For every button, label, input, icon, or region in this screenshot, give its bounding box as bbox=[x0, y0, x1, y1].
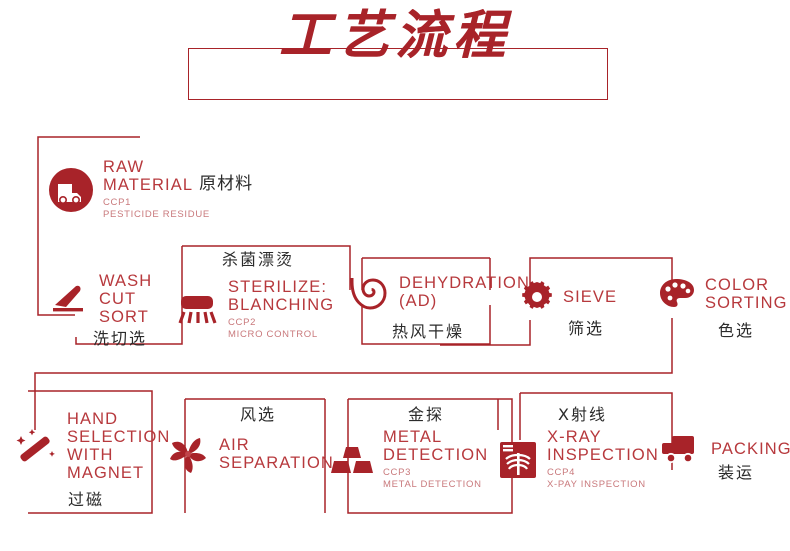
step-raw-material[interactable]: RAW MATERIAL 原材料 CCP1 PESTICIDE RESIDUE bbox=[48, 158, 253, 221]
step-ccp-note: CCP1 PESTICIDE RESIDUE bbox=[103, 197, 253, 221]
step-metal-detection[interactable]: METAL DETECTION CCP3 METAL DETECTION bbox=[330, 428, 488, 491]
page-title: 工艺流程 bbox=[0, 10, 790, 62]
step-ccp-note: CCP2 MICRO CONTROL bbox=[228, 317, 334, 341]
step-label-en: COLOR SORTING bbox=[705, 276, 788, 312]
gold-bars-icon bbox=[330, 441, 374, 479]
step-label-cn-wash: 洗切选 bbox=[93, 325, 147, 349]
step-label-en: DEHYDRATION (AD) bbox=[399, 274, 530, 310]
magic-wand-icon bbox=[12, 423, 58, 469]
step-label-cn-packing: 装运 bbox=[718, 459, 754, 483]
step-wash-cut-sort[interactable]: WASH CUT SORT bbox=[48, 272, 152, 326]
step-air-separation[interactable]: AIR SEPARATION bbox=[166, 432, 334, 476]
step-x-ray-inspection[interactable]: X-RAY INSPECTION CCP4 X-PAY INSPECTION bbox=[498, 428, 659, 491]
step-label-en: STERILIZE: BLANCHING bbox=[228, 278, 334, 314]
step-color-sorting[interactable]: COLOR SORTING bbox=[658, 276, 788, 312]
step-label-cn-air: 风选 bbox=[240, 401, 276, 425]
step-label-cn-colorsort: 色选 bbox=[718, 317, 754, 341]
step-label-cn-dehydration: 热风干燥 bbox=[392, 318, 464, 342]
steam-blancher-icon bbox=[175, 290, 219, 330]
xray-icon bbox=[498, 440, 538, 480]
step-label-cn-magnet: 过磁 bbox=[68, 486, 104, 510]
step-sterilize-blanching[interactable]: STERILIZE: BLANCHING CCP2 MICRO CONTROL bbox=[175, 278, 334, 341]
step-sieve[interactable]: SIEVE bbox=[520, 280, 617, 314]
step-label-cn-sterilize: 杀菌漂烫 bbox=[222, 246, 294, 270]
process-flow-diagram: 工艺流程 RAW MATERIAL 原材料 CCP1 PESTICIDE RES… bbox=[0, 0, 790, 551]
step-hand-selection-magnet[interactable]: HAND SELECTION WITH MAGNET bbox=[12, 410, 170, 482]
step-label-en: WASH CUT SORT bbox=[99, 272, 152, 326]
step-ccp-note: CCP4 X-PAY INSPECTION bbox=[547, 467, 659, 491]
step-label-en: AIR SEPARATION bbox=[219, 436, 334, 472]
step-dehydration[interactable]: DEHYDRATION (AD) bbox=[348, 272, 530, 312]
step-label-cn: 原材料 bbox=[199, 169, 253, 194]
pinwheel-icon bbox=[166, 432, 210, 476]
step-label-en: SIEVE bbox=[563, 288, 617, 306]
truck-icon bbox=[660, 432, 702, 466]
truck-circle-icon bbox=[48, 167, 94, 213]
gear-icon bbox=[520, 280, 554, 314]
step-label-en: METAL DETECTION bbox=[383, 428, 488, 464]
step-label-cn-metal: 金探 bbox=[408, 401, 444, 425]
step-label-cn-xray: X射线 bbox=[558, 401, 607, 425]
step-label-en: RAW MATERIAL bbox=[103, 158, 193, 194]
step-label-en: HAND SELECTION WITH MAGNET bbox=[67, 410, 170, 482]
step-label-cn-sieve: 筛选 bbox=[568, 315, 604, 339]
step-ccp-note: CCP3 METAL DETECTION bbox=[383, 467, 488, 491]
knife-icon bbox=[48, 278, 90, 320]
step-label-en: PACKING bbox=[711, 440, 790, 458]
spiral-dryer-icon bbox=[348, 272, 390, 312]
palette-icon bbox=[658, 277, 696, 311]
step-label-en: X-RAY INSPECTION bbox=[547, 428, 659, 464]
